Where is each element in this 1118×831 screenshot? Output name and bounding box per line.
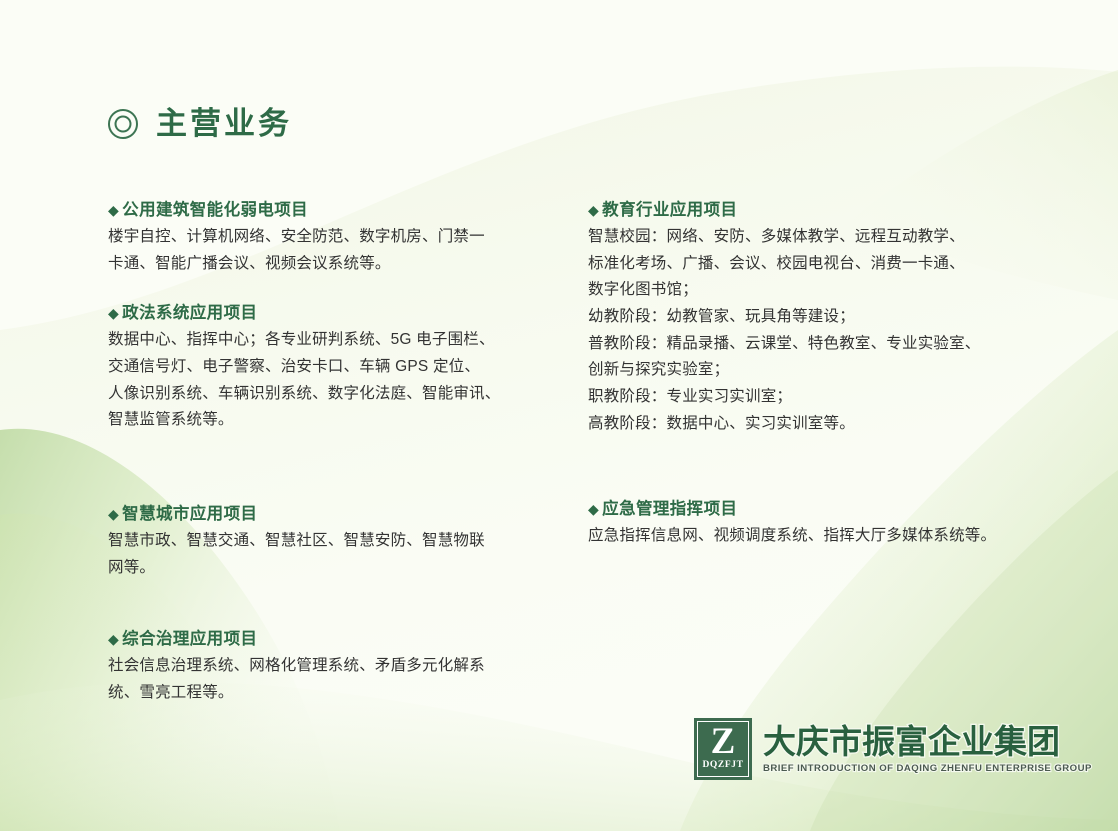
- body-line: 应急指挥信息网、视频调度系统、指挥大厅多媒体系统等。: [588, 523, 1050, 550]
- diamond-bullet-icon: ◆: [108, 629, 119, 650]
- section-heading: ◆ 智慧城市应用项目: [108, 504, 548, 525]
- logo-mark-icon: Z DQZFJT: [694, 718, 752, 780]
- body-line: 社会信息治理系统、网格化管理系统、矛盾多元化解系: [108, 653, 548, 680]
- diamond-bullet-icon: ◆: [108, 504, 119, 525]
- section-body: 数据中心、指挥中心；各专业研判系统、5G 电子围栏、 交通信号灯、电子警察、治安…: [108, 327, 548, 434]
- body-line: 职教阶段：专业实习实训室；: [588, 384, 1050, 411]
- diamond-bullet-icon: ◆: [108, 200, 119, 221]
- body-line: 标准化考场、广播、会议、校园电视台、消费一卡通、: [588, 251, 1050, 278]
- section-heading: ◆ 政法系统应用项目: [108, 303, 548, 324]
- body-line: 网等。: [108, 555, 548, 582]
- body-line: 人像识别系统、车辆识别系统、数字化法庭、智能审讯、: [108, 381, 548, 408]
- section-heading: ◆ 教育行业应用项目: [588, 200, 1050, 221]
- section-body: 智慧市政、智慧交通、智慧社区、智慧安防、智慧物联 网等。: [108, 528, 548, 581]
- diamond-bullet-icon: ◆: [108, 303, 119, 324]
- section-public-building: ◆ 公用建筑智能化弱电项目 楼宇自控、计算机网络、安全防范、数字机房、门禁一 卡…: [108, 200, 548, 277]
- logo-letter: Z: [711, 725, 736, 758]
- section-heading: ◆ 综合治理应用项目: [108, 629, 548, 650]
- double-circle-icon: [108, 109, 138, 139]
- section-heading-label: 政法系统应用项目: [122, 303, 257, 324]
- section-heading-label: 综合治理应用项目: [122, 629, 257, 650]
- body-line: 数据中心、指挥中心；各专业研判系统、5G 电子围栏、: [108, 327, 548, 354]
- section-comprehensive-governance: ◆ 综合治理应用项目 社会信息治理系统、网格化管理系统、矛盾多元化解系 统、雪亮…: [108, 629, 548, 706]
- section-body: 楼宇自控、计算机网络、安全防范、数字机房、门禁一 卡通、智能广播会议、视频会议系…: [108, 224, 548, 277]
- section-heading-label: 公用建筑智能化弱电项目: [122, 200, 308, 221]
- body-line: 智慧市政、智慧交通、智慧社区、智慧安防、智慧物联: [108, 528, 548, 555]
- section-smart-city: ◆ 智慧城市应用项目 智慧市政、智慧交通、智慧社区、智慧安防、智慧物联 网等。: [108, 504, 548, 581]
- body-line: 高教阶段：数据中心、实习实训室等。: [588, 411, 1050, 438]
- section-heading: ◆ 公用建筑智能化弱电项目: [108, 200, 548, 221]
- section-body: 社会信息治理系统、网格化管理系统、矛盾多元化解系 统、雪亮工程等。: [108, 653, 548, 706]
- company-name-cn: 大庆市振富企业集团: [763, 724, 1092, 760]
- body-line: 幼教阶段：幼教管家、玩具角等建设；: [588, 304, 1050, 331]
- body-line: 数字化图书馆；: [588, 277, 1050, 304]
- section-education: ◆ 教育行业应用项目 智慧校园：网络、安防、多媒体教学、远程互动教学、 标准化考…: [588, 200, 1050, 437]
- body-line: 楼宇自控、计算机网络、安全防范、数字机房、门禁一: [108, 224, 548, 251]
- body-line: 创新与探究实验室；: [588, 357, 1050, 384]
- page-title-label: 主营业务: [156, 108, 292, 139]
- brochure-page: 主营业务 ◆ 公用建筑智能化弱电项目 楼宇自控、计算机网络、安全防范、数字机房、…: [0, 0, 1118, 831]
- company-logo: Z DQZFJT 大庆市振富企业集团 BRIEF INTRODUCTION OF…: [694, 718, 1092, 780]
- diamond-bullet-icon: ◆: [588, 499, 599, 520]
- right-column: ◆ 教育行业应用项目 智慧校园：网络、安防、多媒体教学、远程互动教学、 标准化考…: [588, 200, 1050, 550]
- section-emergency-management: ◆ 应急管理指挥项目 应急指挥信息网、视频调度系统、指挥大厅多媒体系统等。: [588, 499, 1050, 550]
- body-line: 普教阶段：精品录播、云课堂、特色教室、专业实验室、: [588, 331, 1050, 358]
- section-body: 应急指挥信息网、视频调度系统、指挥大厅多媒体系统等。: [588, 523, 1050, 550]
- body-line: 卡通、智能广播会议、视频会议系统等。: [108, 251, 548, 278]
- section-heading-label: 智慧城市应用项目: [122, 504, 257, 525]
- left-column: ◆ 公用建筑智能化弱电项目 楼宇自控、计算机网络、安全防范、数字机房、门禁一 卡…: [108, 200, 548, 707]
- section-body: 智慧校园：网络、安防、多媒体教学、远程互动教学、 标准化考场、广播、会议、校园电…: [588, 224, 1050, 437]
- section-heading-label: 应急管理指挥项目: [602, 499, 737, 520]
- company-name-en: BRIEF INTRODUCTION OF DAQING ZHENFU ENTE…: [763, 764, 1092, 775]
- body-line: 统、雪亮工程等。: [108, 680, 548, 707]
- section-heading: ◆ 应急管理指挥项目: [588, 499, 1050, 520]
- body-line: 智慧监管系统等。: [108, 407, 548, 434]
- logo-abbreviation: DQZFJT: [702, 761, 743, 771]
- body-line: 交通信号灯、电子警察、治安卡口、车辆 GPS 定位、: [108, 354, 548, 381]
- section-heading-label: 教育行业应用项目: [602, 200, 737, 221]
- body-line: 智慧校园：网络、安防、多媒体教学、远程互动教学、: [588, 224, 1050, 251]
- section-political-law: ◆ 政法系统应用项目 数据中心、指挥中心；各专业研判系统、5G 电子围栏、 交通…: [108, 303, 548, 434]
- diamond-bullet-icon: ◆: [588, 200, 599, 221]
- page-title: 主营业务: [108, 108, 292, 139]
